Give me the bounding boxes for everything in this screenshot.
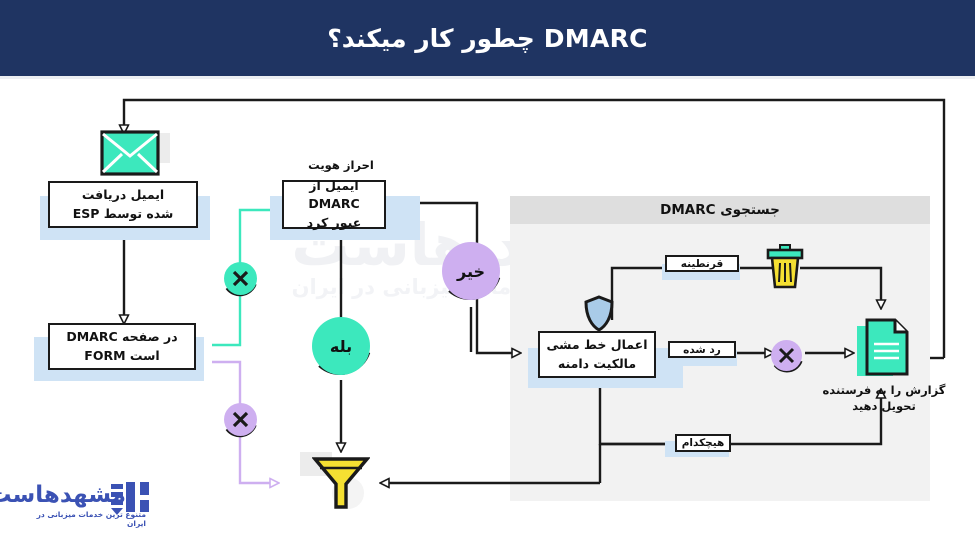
- envelope-icon: [100, 130, 160, 176]
- purple-x-mark-icon-left: [224, 403, 257, 436]
- authentication-caption: احراز هویت: [281, 157, 401, 173]
- teal-x-mark-icon: [224, 262, 257, 295]
- decision-yes-label: بله: [330, 337, 352, 356]
- email-received-box: ایمیل دریافت شده توسط ESP: [48, 181, 198, 228]
- brand-logo: مشهدهاست متنوع ترین خدمات میزبانی در ایر…: [18, 480, 168, 532]
- purple-x-mark-icon-right: [771, 340, 802, 371]
- document-icon: [855, 318, 909, 380]
- rejected-label-text: رد شده: [683, 344, 721, 356]
- dmarc-form-line1: در صفحه DMARC: [66, 328, 177, 346]
- email-received-line2: شده توسط ESP: [73, 205, 174, 223]
- deliver-report-line1: گزارش را به فرستنده: [822, 382, 946, 398]
- email-received-line1: ایمیل دریافت: [73, 186, 174, 204]
- logo-tagline: متنوع ترین خدمات میزبانی در ایران: [18, 510, 146, 528]
- quarantine-label-text: قرنطینه: [681, 258, 724, 270]
- apply-policy-box: اعمال خط مشی مالکیت دامنه: [538, 331, 656, 378]
- apply-policy-line1: اعمال خط مشی: [547, 336, 648, 354]
- decision-no-circle: خیر: [442, 242, 500, 300]
- decision-yes-circle: بله: [312, 317, 370, 375]
- rejected-label: رد شده: [668, 341, 736, 358]
- quarantine-label: قرنطینه: [665, 255, 739, 272]
- shield-icon: [583, 295, 615, 333]
- dmarc-passed-line1: ایمیل از DMARC: [288, 177, 380, 213]
- deliver-report-caption: گزارش را به فرستنده تحویل دهید: [822, 382, 946, 414]
- trash-icon: [766, 244, 804, 290]
- funnel-icon: [312, 455, 370, 511]
- dmarc-passed-line2: عبور کرد: [288, 214, 380, 232]
- apply-policy-line2: مالکیت دامنه: [547, 355, 648, 373]
- decision-no-label: خیر: [457, 262, 485, 281]
- none-label-text: هیچکدام: [682, 437, 725, 449]
- logo-name: مشهدهاست: [0, 482, 126, 508]
- deliver-report-line2: تحویل دهید: [822, 398, 946, 414]
- dmarc-passed-box: ایمیل از DMARC عبور کرد: [282, 180, 386, 229]
- dmarc-form-line2: است FORM: [66, 347, 177, 365]
- dmarc-form-box: در صفحه DMARC است FORM: [48, 323, 196, 370]
- none-label: هیچکدام: [675, 434, 731, 452]
- diagram-canvas: DMARC چطور کار میکند؟ مشهد هاست متنوع تر…: [0, 0, 975, 543]
